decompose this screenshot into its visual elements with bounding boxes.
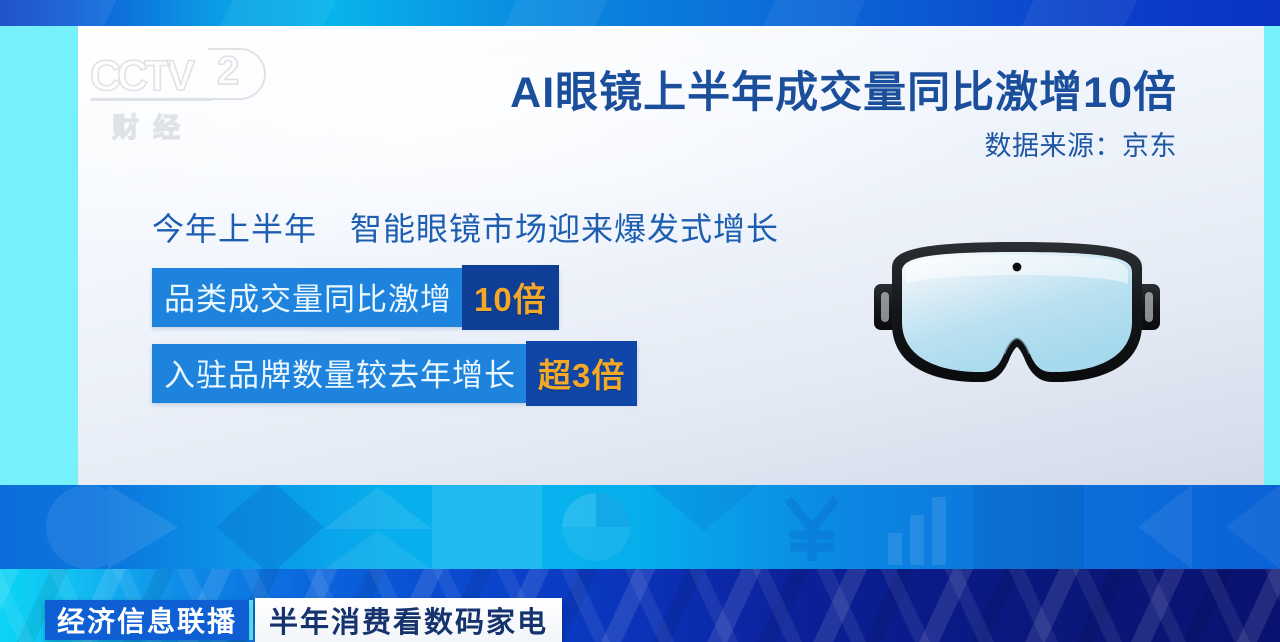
segment-title-badge: 半年消费看数码家电 — [255, 598, 562, 642]
headline: AI眼镜上半年成交量同比激增10倍 — [510, 58, 1177, 120]
tile-chevron-left-icon-2 — [1192, 485, 1280, 569]
cctv2-channel-logo: CCTV 2 财经 — [88, 48, 268, 144]
tile-square-light — [432, 485, 542, 569]
tile-square-dark — [974, 485, 1084, 569]
stat-bar-1: 品类成交量同比激增 10倍 — [152, 268, 559, 327]
lead-line: 今年上半年 智能眼镜市场迎来爆发式增长 — [152, 204, 779, 250]
cctv-wordmark: CCTV — [90, 52, 191, 101]
stat-bar-1-label: 品类成交量同比激增 — [152, 268, 462, 327]
stat-bar-2-value: 超3倍 — [526, 341, 637, 406]
tile-chevron-icon — [650, 485, 758, 569]
program-name-badge: 经济信息联播 — [45, 600, 249, 640]
ar-smart-glasses-icon — [862, 232, 1172, 412]
tile-chevron-left-icon — [1084, 485, 1192, 569]
left-cyan-rail — [2, 26, 78, 485]
tile-triangle — [108, 485, 216, 569]
tile-pie-chart-icon — [542, 485, 650, 569]
tile-yen-symbol-icon — [758, 485, 866, 569]
channel-name-cn: 财经 — [112, 106, 194, 145]
tile-bar-chart-icon — [866, 485, 974, 569]
stat-bar-1-value: 10倍 — [462, 265, 559, 330]
top-decor-band — [0, 0, 1280, 26]
tile-diamond — [216, 485, 324, 569]
tile-triangle-pair — [324, 485, 432, 569]
stat-bar-2-label: 入驻品牌数量较去年增长 — [152, 344, 526, 403]
right-cyan-rail — [1264, 26, 1280, 485]
decor-tile-band — [0, 485, 1280, 569]
top-band-pattern — [0, 0, 1280, 26]
data-source-label: 数据来源：京东 — [985, 124, 1178, 163]
stat-bar-2: 入驻品牌数量较去年增长 超3倍 — [152, 344, 637, 403]
logo-top-row: CCTV 2 — [88, 48, 268, 104]
broadcast-graphic-frame: CCTV 2 财经 AI眼镜上半年成交量同比激增10倍 数据来源：京东 今年上半… — [0, 0, 1280, 642]
logo-underline — [90, 98, 212, 101]
channel-number: 2 — [217, 49, 239, 94]
channel-number-badge: 2 — [208, 48, 266, 100]
tile-circle — [0, 485, 108, 569]
